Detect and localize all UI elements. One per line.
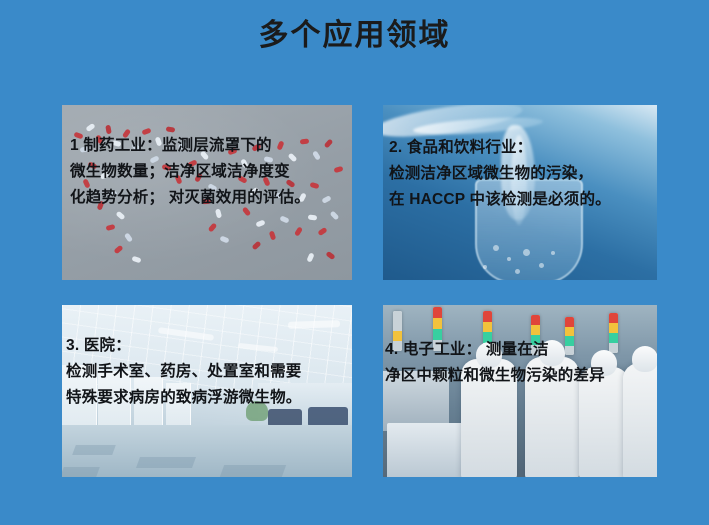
panel-2-text: 2. 食品和饮料行业： 检测洁净区域微生物的污染， 在 HACCP 中该检测是必… xyxy=(383,105,657,213)
page-title: 多个应用领域 xyxy=(0,16,709,56)
panel-2-line-1: 2. 食品和饮料行业： xyxy=(389,135,653,161)
panel-food-beverage-industry[interactable]: 2. 食品和饮料行业： 检测洁净区域微生物的污染， 在 HACCP 中该检测是必… xyxy=(383,105,657,280)
panel-1-line-2: 微生物数量；洁净区域洁净度变 xyxy=(70,159,342,185)
panel-2-line-2: 检测洁净区域微生物的污染， xyxy=(389,161,653,187)
presentation-slide: 多个应用领域 xyxy=(0,0,709,525)
panel-pharmaceutical-industry[interactable]: 1 制药工业：监测层流罩下的 微生物数量；洁净区域洁净度变 化趋势分析； 对灭菌… xyxy=(62,105,352,280)
panel-4-line-1: 4. 电子工业： 测量在洁 xyxy=(385,337,655,363)
panel-3-line-3: 特殊要求病房的致病浮游微生物。 xyxy=(66,385,350,411)
panel-3-line-2: 检测手术室、药房、处置室和需要 xyxy=(66,359,350,385)
panel-1-line-1: 1 制药工业：监测层流罩下的 xyxy=(70,133,342,159)
panel-4-text: 4. 电子工业： 测量在洁 净区中颗粒和微生物污染的差异 xyxy=(383,305,657,389)
panel-2-line-3: 在 HACCP 中该检测是必须的。 xyxy=(389,187,653,213)
panel-3-line-1: 3. 医院： xyxy=(66,333,350,359)
panel-electronics-industry[interactable]: 4. 电子工业： 测量在洁 净区中颗粒和微生物污染的差异 xyxy=(383,305,657,477)
panel-hospital[interactable]: 3. 医院： 检测手术室、药房、处置室和需要 特殊要求病房的致病浮游微生物。 xyxy=(62,305,352,477)
panel-1-line-3: 化趋势分析； 对灭菌效用的评估。 xyxy=(70,185,342,211)
panel-3-text: 3. 医院： 检测手术室、药房、处置室和需要 特殊要求病房的致病浮游微生物。 xyxy=(62,305,352,411)
panel-1-text: 1 制药工业：监测层流罩下的 微生物数量；洁净区域洁净度变 化趋势分析； 对灭菌… xyxy=(62,105,352,211)
panel-4-line-2: 净区中颗粒和微生物污染的差异 xyxy=(385,363,655,389)
